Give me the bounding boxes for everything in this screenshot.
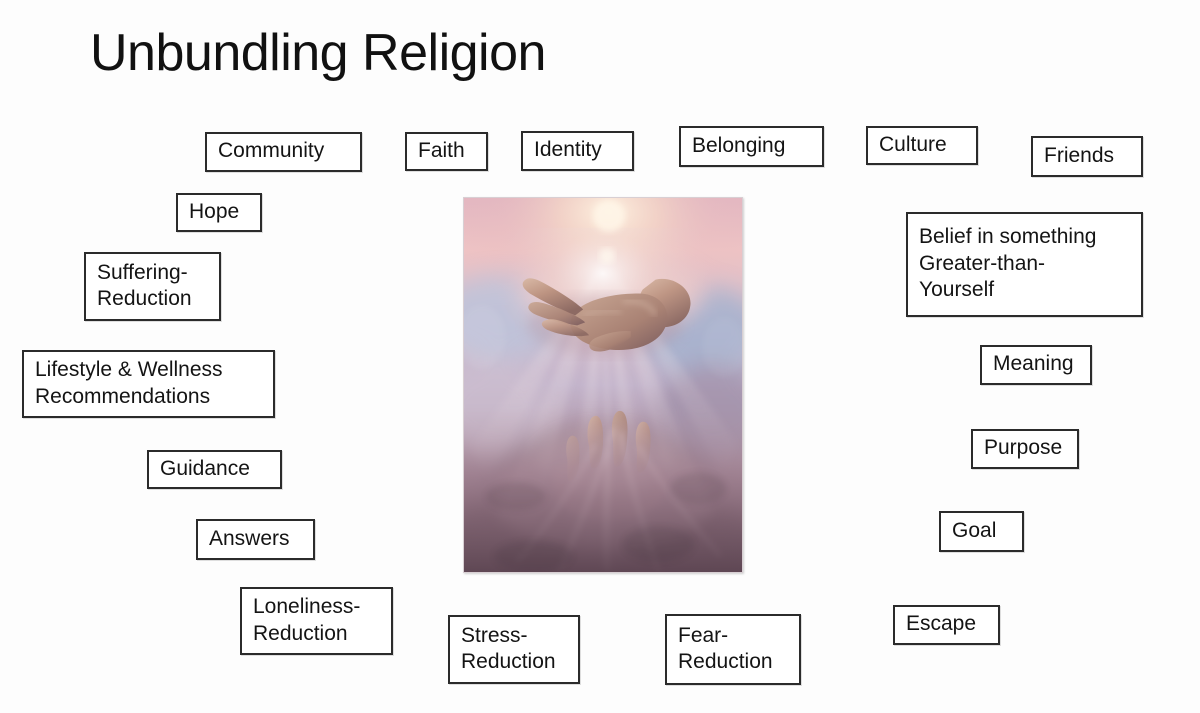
concept-box-fear-reduction[interactable]: Fear-Reduction — [665, 614, 801, 685]
concept-box-label: Lifestyle & Wellness — [35, 357, 223, 383]
concept-box-suffering-reduction[interactable]: Suffering-Reduction — [84, 252, 221, 321]
concept-box-label: Belief in something — [919, 224, 1096, 250]
concept-box-hope[interactable]: Hope — [176, 193, 262, 232]
concept-box-label: Stress- — [461, 623, 528, 649]
concept-box-label: Meaning — [993, 351, 1074, 377]
concept-box-belonging[interactable]: Belonging — [679, 126, 824, 167]
concept-box-label: Suffering- — [97, 260, 188, 286]
concept-box-label: Faith — [418, 138, 465, 164]
concept-box-goal[interactable]: Goal — [939, 511, 1024, 552]
concept-box-label: Guidance — [160, 456, 250, 482]
concept-box-label: Answers — [209, 526, 290, 552]
concept-box-label: Greater-than- — [919, 251, 1045, 277]
concept-box-label: Purpose — [984, 435, 1062, 461]
concept-box-label: Escape — [906, 611, 976, 637]
concept-box-label: Fear- — [678, 623, 728, 649]
concept-box-belief-greater-than-yourself[interactable]: Belief in somethingGreater-than-Yourself — [906, 212, 1143, 317]
concept-box-label: Reduction — [97, 286, 192, 312]
concept-box-label: Community — [218, 138, 324, 164]
concept-box-culture[interactable]: Culture — [866, 126, 978, 165]
concept-box-label: Culture — [879, 132, 947, 158]
concept-box-label: Hope — [189, 199, 239, 225]
concept-box-label: Friends — [1044, 143, 1114, 169]
concept-box-label: Reduction — [461, 649, 556, 675]
concept-box-loneliness-reduction[interactable]: Loneliness-Reduction — [240, 587, 393, 655]
concept-box-answers[interactable]: Answers — [196, 519, 315, 560]
concept-box-meaning[interactable]: Meaning — [980, 345, 1092, 385]
concept-box-label: Goal — [952, 518, 996, 544]
page-title: Unbundling Religion — [90, 24, 546, 84]
concept-box-label: Belonging — [692, 133, 785, 159]
concept-box-label: Recommendations — [35, 384, 210, 410]
concept-box-label: Identity — [534, 137, 602, 163]
concept-box-stress-reduction[interactable]: Stress-Reduction — [448, 615, 580, 684]
concept-box-escape[interactable]: Escape — [893, 605, 1000, 645]
concept-box-lifestyle-wellness-recommendations[interactable]: Lifestyle & WellnessRecommendations — [22, 350, 275, 418]
concept-box-faith[interactable]: Faith — [405, 132, 488, 171]
reaching-hands-painting — [463, 197, 743, 573]
concept-box-label: Reduction — [253, 621, 348, 647]
slide-canvas: Unbundling Religion — [0, 0, 1200, 713]
concept-box-label: Reduction — [678, 649, 773, 675]
concept-box-identity[interactable]: Identity — [521, 131, 634, 171]
concept-box-friends[interactable]: Friends — [1031, 136, 1143, 177]
concept-box-guidance[interactable]: Guidance — [147, 450, 282, 489]
concept-box-label: Loneliness- — [253, 594, 360, 620]
painting-illustration — [464, 198, 742, 572]
concept-box-community[interactable]: Community — [205, 132, 362, 172]
concept-box-label: Yourself — [919, 277, 994, 303]
concept-box-purpose[interactable]: Purpose — [971, 429, 1079, 469]
